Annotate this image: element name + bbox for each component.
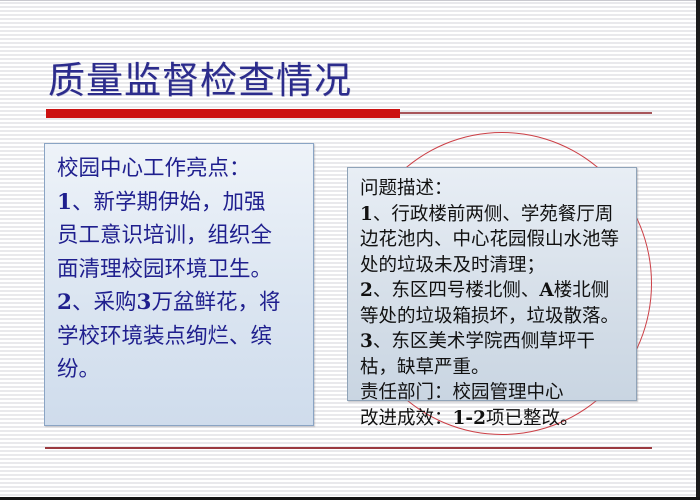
improvement-result-label: 改进成效：: [360, 408, 453, 429]
highlights-item-1-text: 、新学期伊始，加强: [72, 190, 266, 215]
highlights-textbox[interactable]: 校园中心工作亮点： 1、新学期伊始，加强 员工意识培训，组织全 面清理校园环境卫…: [44, 143, 314, 426]
issue-item-3-line-2: 枯，缺草严重。: [360, 355, 626, 381]
highlights-item-1-line-1: 1、新学期伊始，加强: [57, 186, 303, 220]
title-underline-thin: [400, 112, 652, 114]
highlights-item-2-quantity: 3: [136, 290, 151, 315]
issue-item-1-line-3: 处的垃圾未及时清理；: [360, 253, 626, 279]
highlights-item-1-line-2: 员工意识培训，组织全: [57, 219, 303, 253]
bottom-divider-rule: [45, 447, 652, 449]
issue-item-3-text: 、东区美术学院西侧草坪干: [373, 331, 595, 352]
issue-item-1-number: 1: [360, 204, 373, 225]
issue-item-1-line-2: 边花池内、中心花园假山水池等: [360, 227, 626, 253]
highlights-item-1-line-3: 面清理校园环境卫生。: [57, 253, 303, 287]
highlights-item-2-line-2: 学校环境装点绚烂、缤: [57, 320, 303, 354]
highlights-heading: 校园中心工作亮点：: [57, 152, 303, 186]
responsible-department-line: 责任部门：校园管理中心: [360, 380, 626, 406]
issue-item-2-building-label: A: [539, 280, 553, 301]
issue-item-2-text-a: 、东区四号楼北侧、: [373, 280, 540, 301]
highlights-item-2-line-1: 2、采购3万盆鲜花，将: [57, 286, 303, 320]
issue-item-1-line-1: 1、行政楼前两侧、学苑餐厅周: [360, 202, 626, 228]
highlights-item-1-number: 1: [57, 190, 72, 215]
issue-item-3-number: 3: [360, 331, 373, 352]
page-right-edge: [696, 0, 700, 500]
improvement-result-line: 改进成效：1-2项已整改。: [360, 406, 626, 432]
issue-item-2-line-1: 2、东区四号楼北侧、A楼北侧: [360, 278, 626, 304]
slide-canvas: 质量监督检查情况 校园中心工作亮点： 1、新学期伊始，加强 员工意识培训，组织全…: [0, 0, 700, 500]
highlights-item-2-number: 2: [57, 290, 72, 315]
issue-heading: 问题描述：: [360, 176, 626, 202]
page-title: 质量监督检查情况: [48, 58, 352, 104]
page-top-edge: [0, 0, 700, 1]
issue-item-3-line-1: 3、东区美术学院西侧草坪干: [360, 329, 626, 355]
title-underline-thick: [46, 109, 400, 118]
improvement-result-count: 1-2: [453, 408, 486, 429]
highlights-item-2-line-3: 纷。: [57, 353, 303, 387]
highlights-item-2-text-b: 万盆鲜花，将: [151, 290, 280, 315]
issue-item-2-text-b: 楼北侧: [554, 280, 610, 301]
highlights-item-2-text-a: 、采购: [72, 290, 137, 315]
issue-item-2-line-2: 等处的垃圾箱损坏，垃圾散落。: [360, 304, 626, 330]
improvement-result-text: 项已整改。: [486, 408, 579, 429]
issue-item-2-number: 2: [360, 280, 373, 301]
issue-description-textbox[interactable]: 问题描述： 1、行政楼前两侧、学苑餐厅周 边花池内、中心花园假山水池等 处的垃圾…: [347, 167, 637, 401]
issue-item-1-text: 、行政楼前两侧、学苑餐厅周: [373, 204, 614, 225]
